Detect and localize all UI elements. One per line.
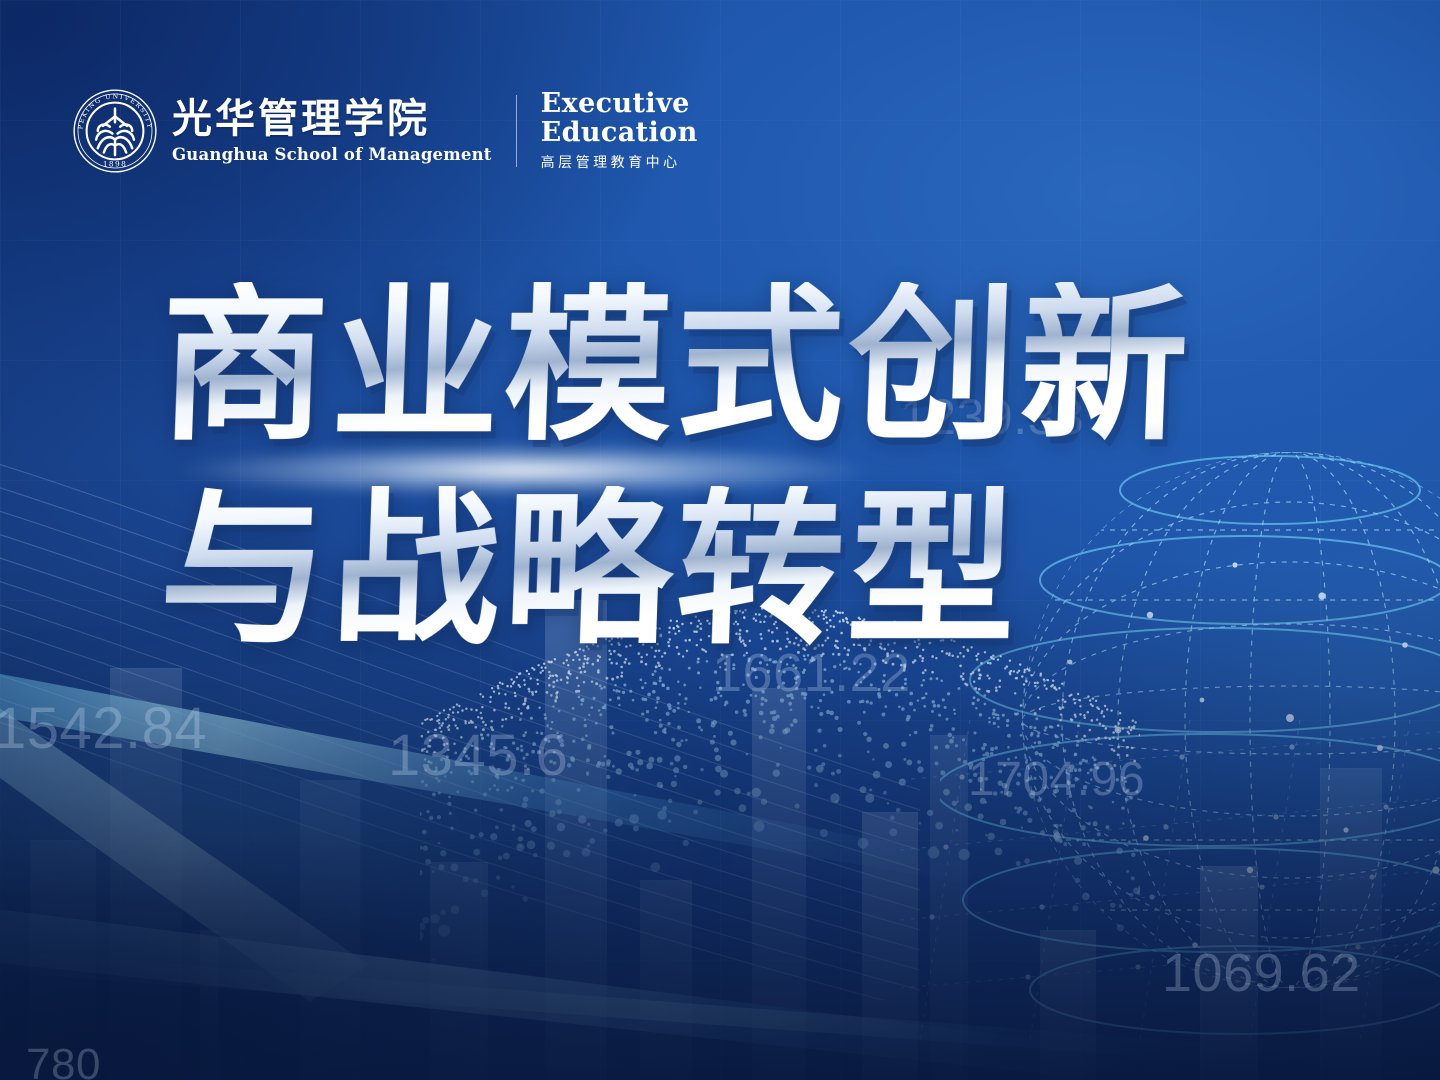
background-number: 1345.6 [388,722,568,789]
background-number: 1542.84 [0,695,207,762]
background-number: 780 [26,1040,101,1080]
peking-university-seal-icon: PEKING UNIVERSITY 1898 [72,88,158,174]
background-number: 1069.62 [1162,942,1361,1004]
program-chinese: 高层管理教育中心 [541,152,698,172]
program-line-1: Executive [541,90,698,119]
page-title: 商业模式创新 与战略转型 [160,282,1192,654]
program-line-2: Education [541,119,698,148]
logo-chinese-name: 光华管理学院 [172,98,492,140]
institution-logo: PEKING UNIVERSITY 1898 光华管理学院 Guanghua S… [72,88,698,174]
logo-chinese-block: 光华管理学院 Guanghua School of Management [172,98,492,164]
logo-divider [516,95,517,167]
svg-text:1898: 1898 [103,159,127,168]
poster-canvas: 1542.841345.61661.221239.381704.961069.6… [0,0,1440,1080]
logo-program-block: Executive Education 高层管理教育中心 [541,90,698,173]
title-line-1: 商业模式创新 [157,282,1195,450]
title-line-2: 与战略转型 [157,486,1195,654]
background-number: 1704.96 [968,752,1145,807]
logo-english-name: Guanghua School of Management [172,145,492,164]
